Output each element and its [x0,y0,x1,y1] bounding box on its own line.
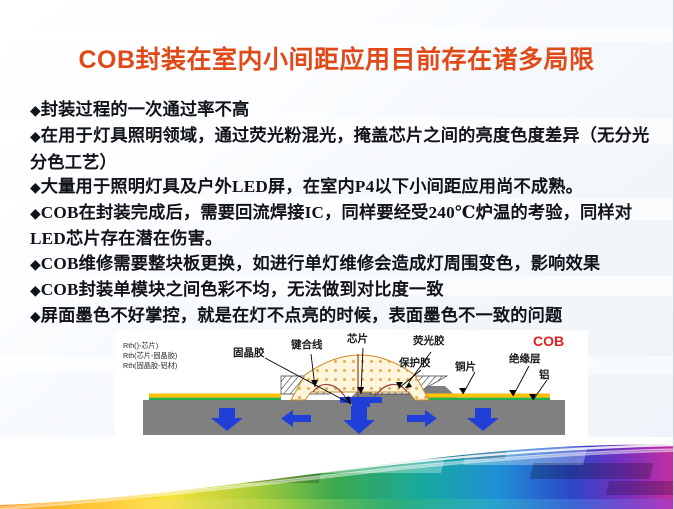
label-copper-sheet: 铜片 [455,360,476,373]
list-item: ◆在用于灯具照明领域，通过荧光粉混光，掩盖芯片之间的亮度色度差异（无分光分色工艺… [30,124,657,175]
label-bond-wire: 键合线 [290,338,323,351]
list-item: ◆封装过程的一次通过率不高 [30,98,657,124]
list-item: ◆COB封装单模块之间色彩不均，无法做到对比度一致 [30,278,657,304]
list-item: ◆COB维修需要整块板更换，如进行单灯维修会造成灯周围变色，影响效果 [30,252,657,278]
label-aluminium: 铝 [539,368,550,381]
bullet-text: 在用于灯具照明领域，通过荧光粉混光，掩盖芯片之间的亮度色度差异（无分光分色工艺） [30,126,649,171]
cob-badge: COB [533,333,564,349]
slide-title: COB封装在室内小间距应用目前存在诸多局限 [0,40,673,76]
bullet-text: 大量用于照明灯具及户外LED屏，在室内P4以下小间距应用尚不成熟。 [41,177,583,196]
rth-label-3: Rth(固晶胶-铝材) [123,361,177,370]
bullet-text: COB维修需要整块板更换，如进行单灯维修会造成灯周围变色，影响效果 [41,254,600,273]
rth-label-1: Rth()-芯片) [123,341,158,350]
list-item: ◆COB在封装完成后，需要回流焊接IC，同样要经受240℃炉温的考验，同样对LE… [30,201,657,252]
bullet-text: COB在封装完成后，需要回流焊接IC，同样要经受240℃炉温的考验，同样对LED… [30,203,632,248]
slide-canvas: COB封装在室内小间距应用目前存在诸多局限 ◆封装过程的一次通过率不高 ◆在用于… [0,0,674,509]
bullet-text: 封装过程的一次通过率不高 [41,100,250,119]
bullet-marker-icon: ◆ [30,207,41,222]
bullet-marker-icon: ◆ [30,284,41,299]
copper-layer-left [149,394,281,398]
bullet-marker-icon: ◆ [30,181,41,196]
bullet-marker-icon: ◆ [30,130,41,145]
label-chip: 芯片 [347,332,368,345]
label-protective-glue: 保护胶 [398,356,431,369]
bullet-list: ◆封装过程的一次通过率不高 ◆在用于灯具照明领域，通过荧光粉混光，掩盖芯片之间的… [30,98,657,331]
bullet-marker-icon: ◆ [30,104,41,119]
bullet-marker-icon: ◆ [30,310,41,325]
label-die-attach-glue: 固晶胶 [233,346,265,359]
list-item: ◆大量用于照明灯具及户外LED屏，在室内P4以下小间距应用尚不成熟。 [30,175,657,201]
label-phosphor-glue: 荧光胶 [413,334,445,347]
rainbow-wave-graphic [0,437,674,509]
bullet-marker-icon: ◆ [30,258,41,273]
insulation-layer-left [149,398,281,400]
rth-label-2: Rth(芯片-固晶胶) [123,351,177,360]
label-insulation-layer: 绝缘层 [509,352,541,365]
list-item: ◆屏面墨色不好掌控，就是在灯不点亮的时候，表面墨色不一致的问题 [30,304,657,330]
insulation-layer-right [415,398,550,400]
bullet-text: 屏面墨色不好掌控，就是在灯不点亮的时候，表面墨色不一致的问题 [41,306,563,325]
bullet-text: COB封装单模块之间色彩不均，无法做到对比度一致 [41,280,444,299]
